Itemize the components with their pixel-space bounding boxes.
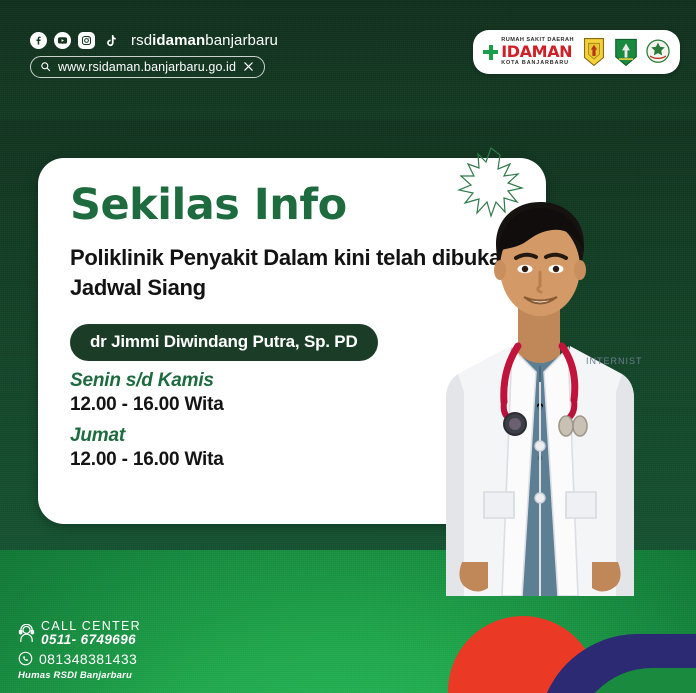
call-center-text-group: CALL CENTER 0511- 6749696 <box>41 620 141 648</box>
website-url-pill[interactable]: www.rsidaman.banjarbaru.go.id <box>30 56 265 78</box>
doctor-name-pill: dr Jimmi Diwindang Putra, Sp. PD <box>70 324 378 361</box>
poster-canvas: rsdidamanbanjarbaru www.rsidaman.banjarb… <box>0 0 696 693</box>
call-center-number: 0511- 6749696 <box>41 633 141 648</box>
logo-sub-line: KOTA BANJARBARU <box>501 61 574 66</box>
youtube-icon[interactable] <box>54 32 71 49</box>
close-icon[interactable] <box>243 61 254 72</box>
website-url-text: www.rsidaman.banjarbaru.go.id <box>58 60 236 74</box>
whatsapp-number: 081348381433 <box>39 651 137 667</box>
whatsapp-icon <box>18 651 33 666</box>
facebook-icon[interactable] <box>30 32 47 49</box>
banjarbaru-city-crest <box>582 37 606 67</box>
doctor-portrait: INTERNIST <box>440 196 696 596</box>
footer-credit: Humas RSDI Banjarbaru <box>18 670 141 681</box>
svg-text:INTERNIST: INTERNIST <box>586 356 643 366</box>
tiktok-icon[interactable] <box>102 32 119 49</box>
social-handle: rsdidamanbanjarbaru <box>131 32 278 49</box>
header: rsdidamanbanjarbaru www.rsidaman.banjarb… <box>30 32 278 78</box>
headset-operator-icon <box>18 624 35 643</box>
hospital-logo-badge: RUMAH SAKIT DAERAH IDAMAN KOTA BANJARBAR… <box>473 30 680 74</box>
logo-main-text: IDAMAN <box>501 44 574 60</box>
medical-cross-icon <box>483 45 498 60</box>
footer-contact: CALL CENTER 0511- 6749696 081348381433 H… <box>18 620 141 681</box>
idaman-wordmark: RUMAH SAKIT DAERAH IDAMAN KOTA BANJARBAR… <box>501 38 574 66</box>
hospital-seal-crest <box>646 37 670 67</box>
whatsapp-row: 081348381433 <box>18 651 141 667</box>
idaman-logo: RUMAH SAKIT DAERAH IDAMAN KOTA BANJARBAR… <box>483 38 574 66</box>
search-icon <box>40 61 51 72</box>
social-links-row: rsdidamanbanjarbaru <box>30 32 278 49</box>
call-center-row: CALL CENTER 0511- 6749696 <box>18 620 141 648</box>
instagram-icon[interactable] <box>78 32 95 49</box>
south-kalimantan-crest <box>614 37 638 67</box>
